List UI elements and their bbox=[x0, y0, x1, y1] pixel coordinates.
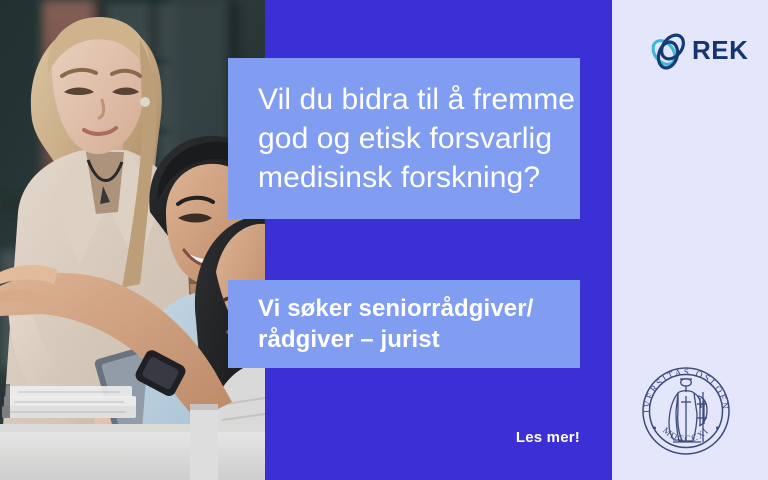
job-title-line-2: rådgiver – jurist bbox=[258, 324, 550, 355]
rek-wordmark: REK bbox=[692, 37, 748, 63]
headline-line-2: god og etisk forsvarlig bbox=[258, 119, 550, 158]
uio-seal: UNIVERSITAS OSLOENSIS MDCCCXI bbox=[637, 362, 735, 460]
team-photo bbox=[0, 0, 265, 480]
job-title-box: Vi søker seniorrådgiver/ rådgiver – juri… bbox=[228, 280, 580, 368]
recruitment-banner: Vil du bidra til å fremme god og etisk f… bbox=[0, 0, 768, 480]
job-title-line-1: Vi søker seniorrådgiver/ bbox=[258, 293, 550, 324]
headline-box: Vil du bidra til å fremme god og etisk f… bbox=[228, 58, 580, 219]
headline-line-1: Vil du bidra til å fremme bbox=[258, 80, 550, 119]
read-more-link[interactable]: Les mer! bbox=[432, 429, 580, 446]
headline-line-3: medisinsk forskning? bbox=[258, 158, 550, 197]
rek-rings-icon bbox=[646, 28, 690, 72]
rek-logo[interactable]: REK bbox=[646, 26, 738, 74]
uio-seal-top-text: UNIVERSITAS OSLOENSIS bbox=[637, 362, 730, 413]
